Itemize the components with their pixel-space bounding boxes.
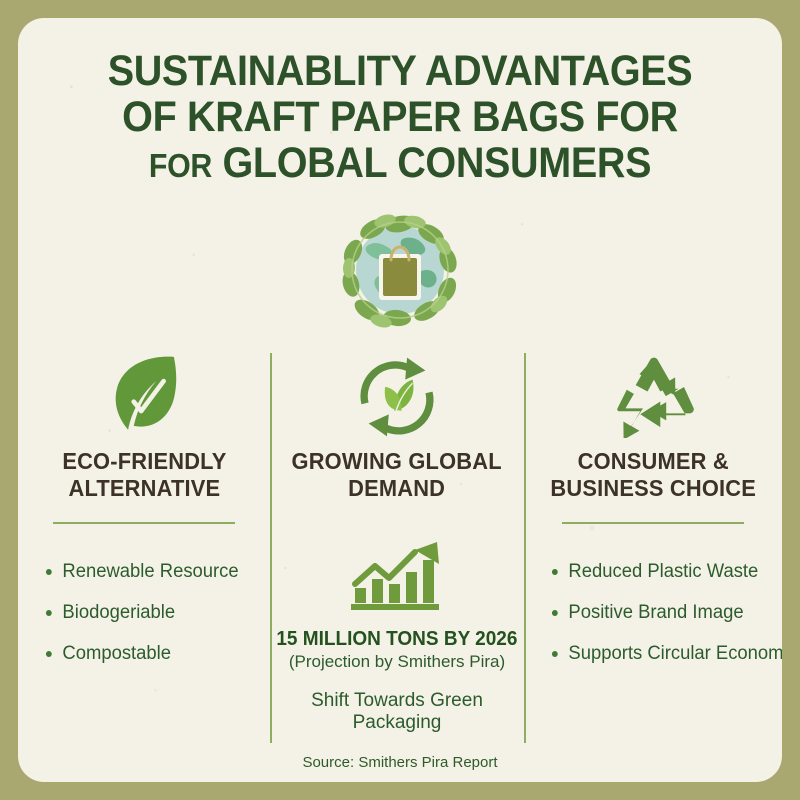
stat-subtext: (Projection by Smithers Pira) bbox=[289, 652, 505, 672]
list-item: Biodogeriable bbox=[44, 603, 252, 623]
column-heading-consumer-business: CONSUMER & BUSINESS CHOICE bbox=[550, 448, 756, 502]
column-heading-eco-friendly: ECO-FRIENDLY ALTERNATIVE bbox=[62, 448, 226, 502]
columns-container: ECO-FRIENDLY ALTERNATIVE Renewable Resou… bbox=[18, 348, 782, 768]
heading-line-1: GROWING GLOBAL bbox=[292, 448, 502, 475]
recycle-arrows-leaf-icon bbox=[354, 348, 440, 446]
bar-chart-growth-icon bbox=[349, 538, 445, 612]
heading-line-2: ALTERNATIVE bbox=[62, 475, 226, 502]
poster-card: SUSTAINABLITY ADVANTAGES OF KRAFT PAPER … bbox=[18, 18, 782, 782]
title-line-2: OF KRAFT PAPER BAGS FOR bbox=[49, 94, 752, 140]
title-line-3: FOR GLOBAL CONSUMERS bbox=[49, 140, 752, 189]
bullet-list-eco-friendly: Renewable Resource Biodogeriable Compost… bbox=[30, 562, 258, 685]
globe-leaves-shopping-bag-icon bbox=[335, 208, 465, 333]
column-growing-demand: GROWING GLOBAL DEMAND 15 MI bbox=[270, 348, 524, 768]
heading-rule bbox=[53, 522, 235, 524]
title-line-3-prefix: FOR bbox=[149, 147, 212, 184]
column-eco-friendly: ECO-FRIENDLY ALTERNATIVE Renewable Resou… bbox=[18, 348, 270, 768]
title-line-3-main: GLOBAL CONSUMERS bbox=[223, 139, 652, 187]
column-heading-growing-demand: GROWING GLOBAL DEMAND bbox=[292, 448, 502, 502]
list-item: Reduced Plastic Waste bbox=[550, 562, 763, 582]
heading-line-1: CONSUMER & bbox=[550, 448, 756, 475]
list-item: Supports Circular Economy bbox=[550, 644, 763, 664]
list-item: Positive Brand Image bbox=[550, 603, 763, 623]
leaf-check-icon bbox=[102, 348, 186, 446]
heading-line-1: ECO-FRIENDLY bbox=[62, 448, 226, 475]
title-line-1: SUSTAINABLITY ADVANTAGES bbox=[49, 48, 752, 94]
stat-note: Shift Towards Green Packaging bbox=[310, 690, 485, 734]
column-consumer-business: CONSUMER & BUSINESS CHOICE Reduced Plast… bbox=[524, 348, 782, 768]
recycling-symbol-icon bbox=[609, 348, 697, 446]
list-item: Renewable Resource bbox=[44, 562, 252, 582]
heading-line-2: BUSINESS CHOICE bbox=[550, 475, 756, 502]
source-note: Source: Smithers Pira Report bbox=[18, 754, 782, 771]
infographic-poster: SUSTAINABLITY ADVANTAGES OF KRAFT PAPER … bbox=[0, 0, 800, 800]
bullet-list-consumer-business: Reduced Plastic Waste Positive Brand Ima… bbox=[536, 562, 770, 685]
heading-line-2: DEMAND bbox=[292, 475, 502, 502]
list-item: Compostable bbox=[44, 644, 252, 664]
stat-headline: 15 MILLION TONS BY 2026 bbox=[276, 628, 517, 650]
heading-rule bbox=[562, 522, 744, 524]
page-title: SUSTAINABLITY ADVANTAGES OF KRAFT PAPER … bbox=[18, 48, 782, 189]
